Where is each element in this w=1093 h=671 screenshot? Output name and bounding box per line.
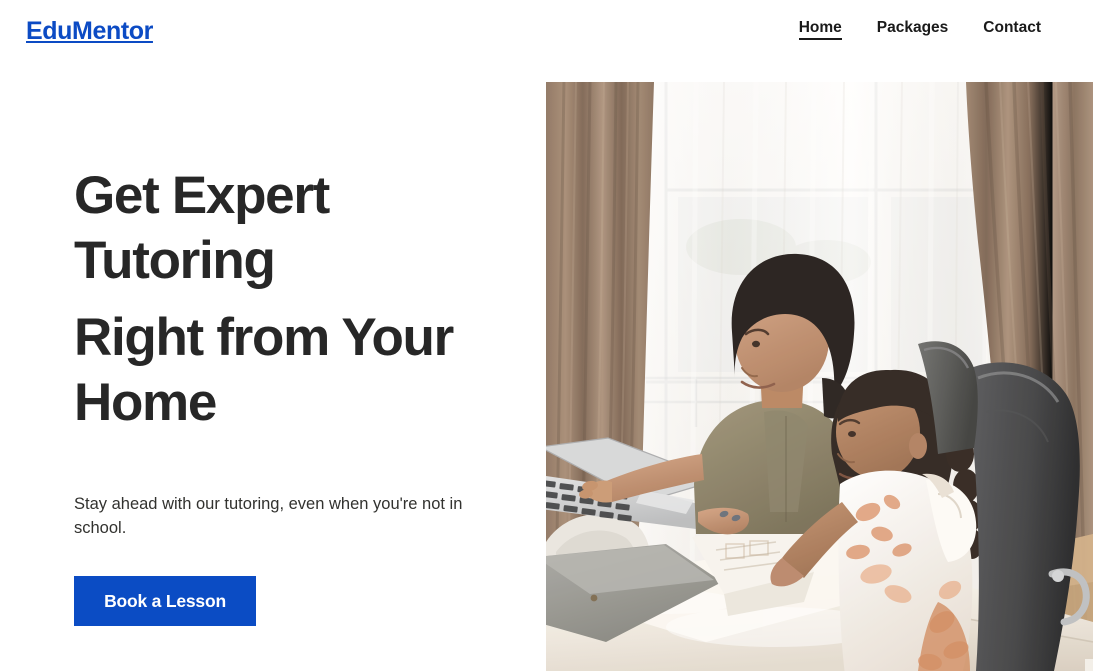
hero-heading-line-one: Get Expert Tutoring (74, 164, 504, 293)
hero-subtitle: Stay ahead with our tutoring, even when … (74, 492, 466, 542)
hero-copy-block: Get Expert Tutoring Right from Your Home… (74, 164, 504, 626)
page-corner-artifact (1085, 659, 1093, 671)
nav-link-contact[interactable]: Contact (983, 20, 1041, 41)
hero-heading-line-two: Right from Your Home (74, 306, 504, 435)
main-navigation: Home Packages Contact (799, 20, 1071, 41)
hero-photo-illustration (546, 82, 1093, 671)
site-header: EduMentor Home Packages Contact (0, 0, 1093, 60)
nav-link-home[interactable]: Home (799, 20, 842, 41)
hero-section: Get Expert Tutoring Right from Your Home… (0, 60, 1093, 671)
hero-photo (546, 82, 1093, 671)
book-a-lesson-button[interactable]: Book a Lesson (74, 576, 256, 626)
nav-link-packages[interactable]: Packages (877, 20, 949, 41)
brand-logo[interactable]: EduMentor (26, 17, 153, 44)
